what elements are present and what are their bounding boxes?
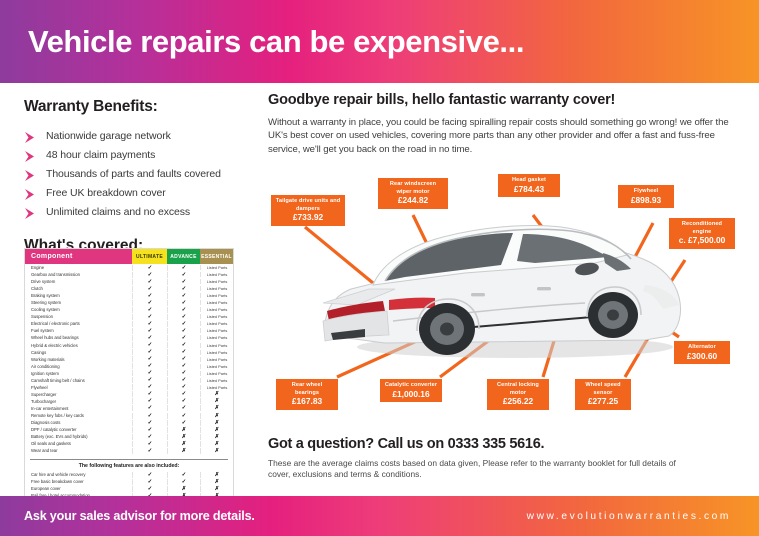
cell-ess: Listed Parts	[200, 293, 233, 298]
callout-alternator: Alternator £300.60	[674, 341, 730, 364]
table-row: Engine✓✓Listed Parts	[25, 264, 233, 271]
cell-ult: ✓	[132, 314, 167, 320]
column-header-ultimate: ULTIMATE	[132, 249, 167, 264]
coverage-table: Component ULTIMATE ADVANCE ESSENTIAL Eng…	[24, 248, 234, 507]
cell-adv: ✓	[167, 391, 200, 397]
cell-component-name: In-car entertainment	[25, 406, 132, 411]
cell-component-name: Braking system	[25, 293, 132, 298]
benefit-item: Thousands of parts and faults covered	[24, 164, 248, 183]
cell-ult: ✓	[132, 328, 167, 334]
cell-ess: ✗	[200, 472, 233, 478]
cell-ult: ✓	[132, 307, 167, 313]
table-row: Fuel system✓✓Listed Parts	[25, 327, 233, 334]
cell-component-name: Wheel hubs and bearings	[25, 335, 132, 340]
chevron-right-icon	[24, 168, 39, 179]
cell-adv: ✗	[167, 486, 200, 492]
cell-ess: ✗	[200, 391, 233, 397]
table-row: Car hire and vehicle recovery✓✓✗	[25, 471, 233, 478]
benefit-item: Free UK breakdown cover	[24, 183, 248, 202]
benefit-label: Thousands of parts and faults covered	[46, 168, 221, 180]
cell-ult: ✓	[132, 405, 167, 411]
cell-ess: ✗	[200, 427, 233, 433]
cell-ess: ✗	[200, 398, 233, 404]
benefit-item: Unlimited claims and no excess	[24, 202, 248, 221]
intro-body: Without a warranty in place, you could b…	[268, 116, 738, 156]
website-url[interactable]: www.evolutionwarranties.com	[527, 511, 731, 522]
cell-ess: Listed Parts	[200, 357, 233, 362]
cell-ess: ✗	[200, 448, 233, 454]
cell-component-name: Fuel system	[25, 328, 132, 333]
intro-heading: Goodbye repair bills, hello fantastic wa…	[268, 92, 738, 108]
cell-adv: ✗	[167, 427, 200, 433]
table-row: Gearbox and transmission✓✓Listed Parts	[25, 271, 233, 278]
callout-wheel-speed-sensor: Wheel speed sensor £277.25	[575, 379, 631, 410]
cell-ult: ✓	[132, 398, 167, 404]
callout-flywheel: Flywheel £898.93	[618, 185, 674, 208]
table-row: Supercharger✓✓✗	[25, 391, 233, 398]
cell-ult: ✓	[132, 335, 167, 341]
table-row: Flywheel✓✓Listed Parts	[25, 384, 233, 391]
table-row: Braking system✓✓Listed Parts	[25, 292, 233, 299]
cell-component-name: Cooling system	[25, 307, 132, 312]
cell-adv: ✓	[167, 342, 200, 348]
cell-ult: ✓	[132, 272, 167, 278]
cell-ess: ✗	[200, 413, 233, 419]
extra-features-title: The following features are also included…	[25, 460, 233, 471]
cell-adv: ✓	[167, 420, 200, 426]
table-body: Engine✓✓Listed PartsGearbox and transmis…	[25, 264, 233, 454]
table-row: Diagnosis costs✓✓✗	[25, 419, 233, 426]
cell-ess: Listed Parts	[200, 328, 233, 333]
cell-ess: Listed Parts	[200, 321, 233, 326]
intro-section: Goodbye repair bills, hello fantastic wa…	[268, 92, 738, 156]
cell-component-name: Casings	[25, 350, 132, 355]
cell-ess: ✗	[200, 434, 233, 440]
benefit-label: Unlimited claims and no excess	[46, 206, 190, 218]
cell-component-name: Working materials	[25, 357, 132, 362]
table-row: In-car entertainment✓✓✗	[25, 405, 233, 412]
cell-adv: ✗	[167, 434, 200, 440]
cell-ult: ✓	[132, 486, 167, 492]
cell-adv: ✓	[167, 398, 200, 404]
cell-ess: Listed Parts	[200, 314, 233, 319]
table-row: Air conditioning✓✓Listed Parts	[25, 363, 233, 370]
cell-adv: ✓	[167, 472, 200, 478]
cell-component-name: Supercharger	[25, 392, 132, 397]
cell-adv: ✓	[167, 279, 200, 285]
cell-ult: ✓	[132, 479, 167, 485]
cell-adv: ✓	[167, 413, 200, 419]
callout-central-locking-motor: Central locking motor £256.22	[487, 379, 549, 410]
cell-ult: ✓	[132, 349, 167, 355]
cell-adv: ✓	[167, 363, 200, 369]
cell-component-name: Oil seals and gaskets	[25, 441, 132, 446]
cell-adv: ✓	[167, 300, 200, 306]
table-row: Ignition system✓✓Listed Parts	[25, 370, 233, 377]
cell-component-name: Diagnosis costs	[25, 420, 132, 425]
benefit-label: Free UK breakdown cover	[46, 187, 166, 199]
cell-component-name: Gearbox and transmission	[25, 272, 132, 277]
cell-ult: ✓	[132, 441, 167, 447]
cell-adv: ✓	[167, 405, 200, 411]
cell-ess: Listed Parts	[200, 265, 233, 270]
cell-ess: Listed Parts	[200, 364, 233, 369]
table-row: Clutch✓✓Listed Parts	[25, 285, 233, 292]
cell-ess: ✗	[200, 479, 233, 485]
footer-message: Ask your sales advisor for more details.	[24, 509, 255, 523]
cell-component-name: Steering system	[25, 300, 132, 305]
chevron-right-icon	[24, 130, 39, 141]
cell-component-name: Flywheel	[25, 385, 132, 390]
cell-ult: ✓	[132, 300, 167, 306]
cell-ult: ✓	[132, 342, 167, 348]
cell-ult: ✓	[132, 293, 167, 299]
cell-adv: ✓	[167, 479, 200, 485]
cell-adv: ✓	[167, 272, 200, 278]
cell-adv: ✓	[167, 321, 200, 327]
table-row: Electrical / electronic parts✓✓Listed Pa…	[25, 320, 233, 327]
cell-ult: ✓	[132, 377, 167, 383]
table-row: DPF / catalytic converter✓✗✗	[25, 426, 233, 433]
column-header-advance: ADVANCE	[167, 249, 200, 264]
cell-adv: ✓	[167, 265, 200, 271]
cell-ult: ✓	[132, 420, 167, 426]
table-row: Hybrid & electric vehicles✓✓Listed Parts	[25, 342, 233, 349]
cell-component-name: Camshaft timing belt / chains	[25, 378, 132, 383]
cell-ess: Listed Parts	[200, 378, 233, 383]
cell-adv: ✓	[167, 307, 200, 313]
benefits-list: Nationwide garage network48 hour claim p…	[24, 126, 248, 221]
cell-ess: Listed Parts	[200, 371, 233, 376]
cell-ult: ✓	[132, 413, 167, 419]
callout-rear-wiper-motor: Rear windscreen wiper motor £244.82	[378, 178, 448, 209]
benefit-label: 48 hour claim payments	[46, 149, 155, 161]
cell-ult: ✓	[132, 321, 167, 327]
chevron-right-icon	[24, 206, 39, 217]
cell-component-name: DPF / catalytic converter	[25, 427, 132, 432]
benefits-heading: Warranty Benefits:	[24, 98, 248, 116]
cell-ult: ✓	[132, 391, 167, 397]
cell-component-name: Hybrid & electric vehicles	[25, 343, 132, 348]
cell-ess: ✗	[200, 420, 233, 426]
cell-adv: ✓	[167, 377, 200, 383]
cell-adv: ✓	[167, 335, 200, 341]
cell-adv: ✓	[167, 314, 200, 320]
cell-adv: ✓	[167, 370, 200, 376]
table-row: European cover✓✗✗	[25, 485, 233, 492]
cell-adv: ✓	[167, 349, 200, 355]
callout-catalytic-converter: Catalytic converter £1,000.16	[380, 379, 442, 402]
cell-component-name: Clutch	[25, 286, 132, 291]
callout-rear-wheel-bearings: Rear wheel bearings £167.83	[276, 379, 338, 410]
benefit-item: Nationwide garage network	[24, 126, 248, 145]
table-row: Working materials✓✓Listed Parts	[25, 356, 233, 363]
table-row: Camshaft timing belt / chains✓✓Listed Pa…	[25, 377, 233, 384]
cell-ess: Listed Parts	[200, 335, 233, 340]
column-header-essential: ESSENTIAL	[200, 249, 233, 264]
cell-ult: ✓	[132, 286, 167, 292]
cell-component-name: European cover	[25, 486, 132, 491]
cell-adv: ✓	[167, 286, 200, 292]
cell-ess: Listed Parts	[200, 307, 233, 312]
chevron-right-icon	[24, 187, 39, 198]
page-header: Vehicle repairs can be expensive...	[0, 0, 759, 83]
cell-component-name: Free basic breakdown cover	[25, 479, 132, 484]
table-row: Oil seals and gaskets✓✗✗	[25, 440, 233, 447]
cell-ess: Listed Parts	[200, 385, 233, 390]
cell-ult: ✓	[132, 434, 167, 440]
cell-ult: ✓	[132, 448, 167, 454]
table-row: Turbocharger✓✓✗	[25, 398, 233, 405]
cell-component-name: Suspension	[25, 314, 132, 319]
cell-adv: ✓	[167, 356, 200, 362]
disclaimer-text: These are the average claims costs based…	[268, 458, 688, 481]
cell-component-name: Air conditioning	[25, 364, 132, 369]
cell-ess: Listed Parts	[200, 343, 233, 348]
cell-ult: ✓	[132, 384, 167, 390]
cell-adv: ✗	[167, 448, 200, 454]
callout-tailgate-drive-units: Tailgate drive units and dampers £733.92	[271, 195, 345, 226]
cell-component-name: Engine	[25, 265, 132, 270]
cell-component-name: Drive system	[25, 279, 132, 284]
contact-section: Got a question? Call us on 0333 335 5616…	[268, 436, 688, 481]
cell-component-name: Electrical / electronic parts	[25, 321, 132, 326]
table-row: Battery (exc. EVs and hybrids)✓✗✗	[25, 433, 233, 440]
cell-ess: ✗	[200, 486, 233, 492]
cell-component-name: Wear and tear	[25, 448, 132, 453]
callout-head-gasket: Head gasket £784.43	[498, 174, 560, 197]
cell-ess: Listed Parts	[200, 279, 233, 284]
benefits-section: Warranty Benefits: Nationwide garage net…	[24, 98, 248, 255]
cell-ess: Listed Parts	[200, 350, 233, 355]
cell-component-name: Battery (exc. EVs and hybrids)	[25, 434, 132, 439]
cell-ess: ✗	[200, 405, 233, 411]
cell-adv: ✓	[167, 328, 200, 334]
cell-ult: ✓	[132, 356, 167, 362]
table-row: Drive system✓✓Listed Parts	[25, 278, 233, 285]
cell-adv: ✓	[167, 384, 200, 390]
cell-component-name: Remote key fobs / key cards	[25, 413, 132, 418]
table-row: Casings✓✓Listed Parts	[25, 349, 233, 356]
page-title: Vehicle repairs can be expensive...	[28, 24, 524, 60]
cell-ult: ✓	[132, 279, 167, 285]
benefit-item: 48 hour claim payments	[24, 145, 248, 164]
cell-adv: ✓	[167, 293, 200, 299]
page-footer: Ask your sales advisor for more details.…	[0, 496, 759, 536]
car-illustration	[323, 225, 681, 355]
cell-ult: ✓	[132, 265, 167, 271]
benefit-label: Nationwide garage network	[46, 130, 171, 142]
cell-ult: ✓	[132, 472, 167, 478]
vehicle-diagram: Tailgate drive units and dampers £733.92…	[265, 165, 759, 425]
table-row: Remote key fobs / key cards✓✓✗	[25, 412, 233, 419]
cell-ult: ✓	[132, 370, 167, 376]
cell-component-name: Ignition system	[25, 371, 132, 376]
cell-ess: Listed Parts	[200, 300, 233, 305]
cell-adv: ✗	[167, 441, 200, 447]
table-row: Wear and tear✓✗✗	[25, 447, 233, 454]
cell-ult: ✓	[132, 427, 167, 433]
column-header-component: Component	[25, 249, 132, 264]
table-row: Cooling system✓✓Listed Parts	[25, 306, 233, 313]
callout-reconditioned-engine: Reconditioned engine c. £7,500.00	[669, 218, 735, 249]
table-row: Steering system✓✓Listed Parts	[25, 299, 233, 306]
cell-ult: ✓	[132, 363, 167, 369]
table-row: Free basic breakdown cover✓✓✗	[25, 478, 233, 485]
cell-component-name: Car hire and vehicle recovery	[25, 472, 132, 477]
cell-ess: Listed Parts	[200, 286, 233, 291]
table-row: Wheel hubs and bearings✓✓Listed Parts	[25, 334, 233, 341]
cell-component-name: Turbocharger	[25, 399, 132, 404]
table-header-row: Component ULTIMATE ADVANCE ESSENTIAL	[25, 249, 233, 264]
chevron-right-icon	[24, 149, 39, 160]
cell-ess: Listed Parts	[200, 272, 233, 277]
table-row: Suspension✓✓Listed Parts	[25, 313, 233, 320]
contact-heading: Got a question? Call us on 0333 335 5616…	[268, 436, 688, 452]
cell-ess: ✗	[200, 441, 233, 447]
